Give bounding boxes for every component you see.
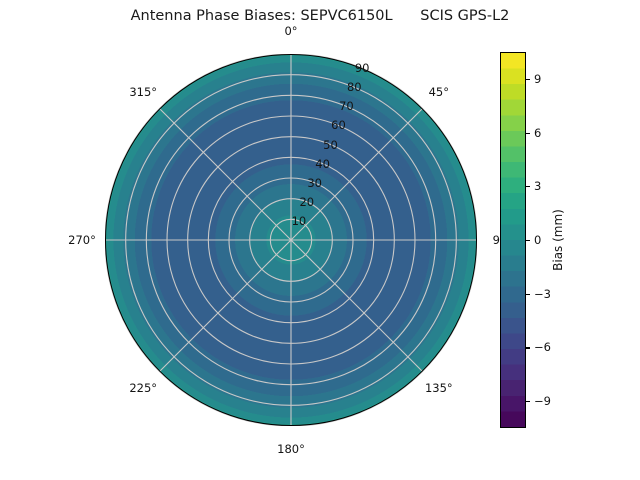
radial-tick-label: 50 [323, 138, 338, 152]
colorbar-tick-mark [526, 133, 530, 134]
radial-tick-label: 20 [299, 195, 314, 209]
colorbar-tick-label: 6 [534, 126, 541, 140]
polar-contour-fill [105, 54, 477, 426]
page-title: Antenna Phase Biases: SEPVC6150L SCIS GP… [0, 8, 640, 24]
polar-plot[interactable]: 102030405060708090 [105, 54, 477, 426]
polar-radial-gradient [105, 54, 477, 426]
colorbar-tick-label: −6 [534, 340, 551, 354]
colorbar-tick-mark [526, 79, 530, 80]
colorbar-tick-mark [526, 240, 530, 241]
azimuth-tick-label-0: 0° [284, 24, 297, 38]
radial-tick-label: 10 [292, 214, 307, 228]
colorbar-tick-label: −3 [534, 287, 551, 301]
radial-tick-label: 80 [347, 80, 362, 94]
radial-tick-label: 70 [339, 99, 354, 113]
radial-tick-label: 60 [331, 118, 346, 132]
azimuth-tick-label-270: 270° [68, 233, 96, 247]
colorbar-tick-label: −9 [534, 394, 551, 408]
colorbar[interactable]: 9630−3−6−9 [500, 52, 526, 428]
colorbar-tick-label: 3 [534, 179, 541, 193]
colorbar-tick-label: 0 [534, 233, 541, 247]
azimuth-tick-label-180: 180° [277, 442, 305, 456]
colorbar-tick-mark [526, 347, 530, 348]
colorbar-tick-label: 9 [534, 72, 541, 86]
colorbar-axis-label: Bias (mm) [551, 209, 565, 271]
colorbar-tick-mark [526, 294, 530, 295]
colorbar-tick-mark [526, 186, 530, 187]
radial-tick-label: 30 [307, 176, 322, 190]
radial-tick-label: 90 [355, 61, 370, 75]
radial-tick-label: 40 [315, 157, 330, 171]
colorbar-gradient [500, 52, 526, 428]
colorbar-tick-mark [526, 401, 530, 402]
